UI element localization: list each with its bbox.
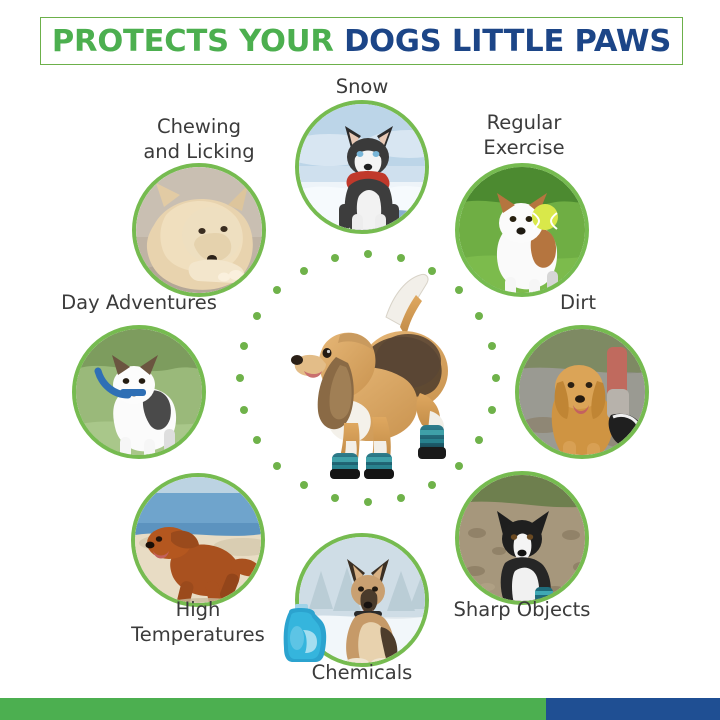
node-sharp-objects-circle[interactable]: [455, 471, 589, 605]
node-chewing-and-licking-label: Chewingand Licking: [109, 114, 289, 164]
decorative-dot: [492, 374, 500, 382]
decorative-dot: [253, 436, 261, 444]
node-dirt-label: Dirt: [488, 290, 668, 315]
node-regular-exercise-photo: [459, 167, 585, 293]
decorative-dot: [300, 481, 308, 489]
footer-bar-blue: [546, 698, 720, 720]
node-sharp-objects-label: Sharp Objects: [432, 597, 612, 622]
node-chemicals-label: Chemicals: [272, 660, 452, 685]
node-regular-exercise-label: RegularExercise: [434, 110, 614, 160]
infographic-canvas: PROTECTS YOUR DOGS LITTLE PAWS: [0, 0, 720, 720]
decorative-dot: [240, 406, 248, 414]
decorative-dot: [428, 481, 436, 489]
node-day-adventures-photo: [76, 329, 202, 455]
node-high-temperatures-label: HighTemperatures: [108, 597, 288, 647]
node-chewing-and-licking-photo: [136, 167, 262, 293]
decorative-dot: [364, 250, 372, 258]
node-dirt-circle[interactable]: [515, 325, 649, 459]
footer-bar-green: [0, 698, 546, 720]
node-high-temperatures-circle[interactable]: [131, 473, 265, 607]
node-sharp-objects-photo: [459, 475, 585, 601]
decorative-dot: [397, 494, 405, 502]
page-title-blue-part: DOGS LITTLE PAWS: [344, 24, 671, 59]
dog-boot-rear: [418, 425, 446, 459]
node-chewing-and-licking-circle[interactable]: [132, 163, 266, 297]
dog-boot-front-right: [364, 453, 394, 479]
decorative-dot: [488, 342, 496, 350]
node-day-adventures-circle[interactable]: [72, 325, 206, 459]
chemical-jug-icon: [281, 604, 331, 664]
decorative-dot: [488, 406, 496, 414]
center-dog-illustration: [270, 265, 470, 480]
page-title-green-part: PROTECTS YOUR: [52, 24, 344, 59]
page-title: PROTECTS YOUR DOGS LITTLE PAWS: [52, 24, 671, 59]
node-regular-exercise-circle[interactable]: [455, 163, 589, 297]
node-high-temperatures-photo: [135, 477, 261, 603]
decorative-dot: [236, 374, 244, 382]
beagle-with-boots-icon: [270, 265, 470, 480]
decorative-dot: [364, 498, 372, 506]
dog-boot-front-left: [330, 453, 360, 479]
page-title-box: PROTECTS YOUR DOGS LITTLE PAWS: [40, 17, 683, 65]
node-snow-circle[interactable]: [295, 100, 429, 234]
decorative-dot: [397, 254, 405, 262]
node-snow-photo: [299, 104, 425, 230]
decorative-dot: [253, 312, 261, 320]
decorative-dot: [240, 342, 248, 350]
node-day-adventures-label: Day Adventures: [49, 290, 229, 315]
node-dirt-photo: [519, 329, 645, 455]
decorative-dot: [331, 494, 339, 502]
decorative-dot: [475, 436, 483, 444]
decorative-dot: [475, 312, 483, 320]
node-snow-label: Snow: [272, 74, 452, 99]
decorative-dot: [331, 254, 339, 262]
